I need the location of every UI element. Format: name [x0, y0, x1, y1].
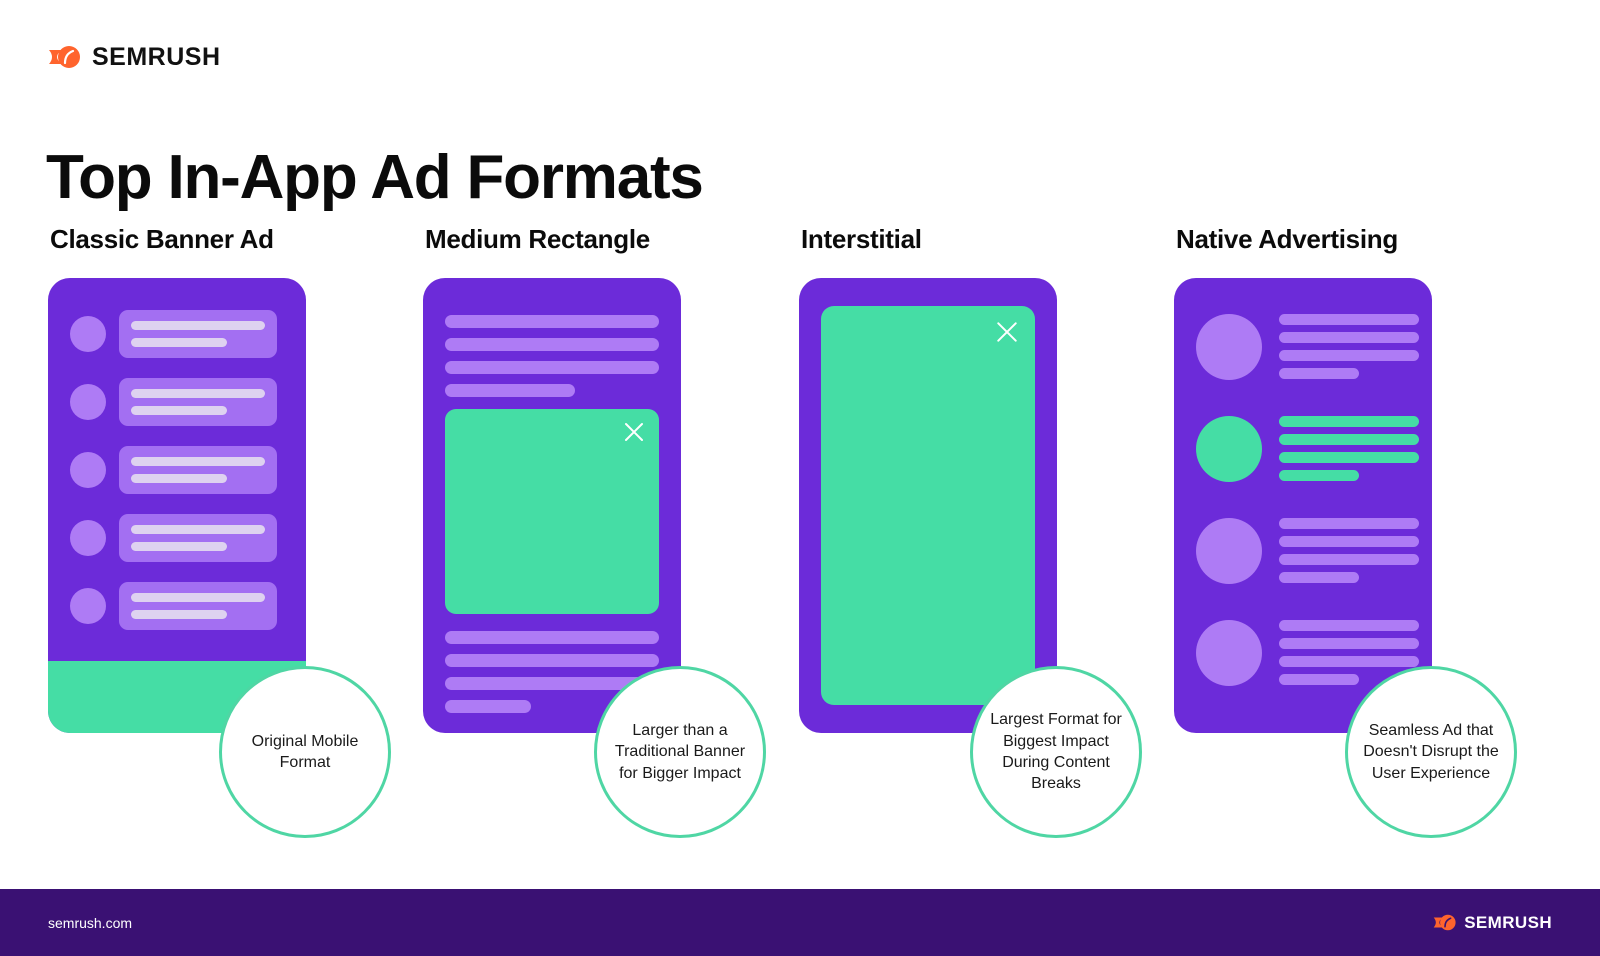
text-line — [1279, 518, 1419, 529]
text-line — [1279, 638, 1419, 649]
placeholder-line — [131, 525, 265, 534]
close-x-icon[interactable] — [995, 320, 1019, 344]
infographic-canvas: SEMRUSH Top In-App Ad Formats Classic Ba… — [0, 0, 1600, 956]
column-medium-rectangle: Medium Rectangle — [423, 225, 803, 733]
feed-item — [1196, 314, 1419, 380]
close-x-icon[interactable] — [623, 421, 645, 443]
text-block — [1279, 314, 1419, 379]
text-line — [1279, 368, 1359, 379]
text-line — [1279, 332, 1419, 343]
interstitial-ad-slot — [821, 306, 1035, 705]
feed-item — [1196, 620, 1419, 686]
feed-item — [1196, 518, 1419, 584]
avatar — [1196, 314, 1262, 380]
text-line — [1279, 536, 1419, 547]
placeholder-line — [131, 338, 227, 347]
footer-url[interactable]: semrush.com — [48, 915, 132, 931]
phone-mockup-interstitial — [799, 278, 1057, 733]
footer-wordmark: SEMRUSH — [1464, 913, 1552, 933]
column-heading: Medium Rectangle — [425, 225, 803, 254]
column-heading: Native Advertising — [1176, 225, 1554, 254]
medium-rectangle-ad-slot — [445, 409, 659, 614]
phone-screen — [1174, 278, 1432, 733]
feed-item-native-ad — [1196, 416, 1419, 482]
avatar — [70, 588, 106, 624]
text-line — [445, 700, 531, 713]
placeholder-line — [131, 389, 265, 398]
avatar — [70, 520, 106, 556]
content-card — [119, 446, 277, 494]
text-line — [1279, 314, 1419, 325]
column-heading: Interstitial — [801, 225, 1179, 254]
text-line — [1279, 554, 1419, 565]
list-item — [70, 582, 277, 630]
semrush-comet-icon — [1433, 913, 1457, 932]
callout-bubble-classic-banner: Original Mobile Format — [219, 666, 391, 838]
text-block — [1279, 518, 1419, 583]
footer-bar: semrush.com SEMRUSH — [0, 889, 1600, 956]
text-line — [1279, 572, 1359, 583]
text-line — [1279, 674, 1359, 685]
text-line — [1279, 656, 1419, 667]
avatar — [1196, 620, 1262, 686]
text-line — [1279, 620, 1419, 631]
text-line — [1279, 350, 1419, 361]
text-line — [445, 315, 659, 328]
placeholder-line — [131, 610, 227, 619]
text-block — [1279, 416, 1419, 481]
content-card — [119, 582, 277, 630]
list-item — [70, 310, 277, 358]
placeholder-line — [131, 474, 227, 483]
text-line — [445, 654, 659, 667]
avatar — [70, 316, 106, 352]
placeholder-line — [131, 457, 265, 466]
phone-screen — [423, 278, 681, 733]
column-native-advertising: Native Advertising — [1174, 225, 1554, 733]
text-line — [445, 631, 659, 644]
list-item — [70, 378, 277, 426]
footer-logo: SEMRUSH — [1433, 913, 1552, 933]
text-line — [1279, 416, 1419, 427]
callout-bubble-medium-rectangle: Larger than a Traditional Banner for Big… — [594, 666, 766, 838]
placeholder-line — [131, 542, 227, 551]
callout-bubble-native-advertising: Seamless Ad that Doesn't Disrupt the Use… — [1345, 666, 1517, 838]
callout-bubble-interstitial: Largest Format for Biggest Impact During… — [970, 666, 1142, 838]
text-line — [1279, 452, 1419, 463]
avatar — [70, 384, 106, 420]
placeholder-line — [131, 321, 265, 330]
avatar — [1196, 416, 1262, 482]
text-line — [445, 338, 659, 351]
avatar — [1196, 518, 1262, 584]
placeholder-line — [131, 406, 227, 415]
list-item — [70, 446, 277, 494]
column-interstitial: Interstitial — [799, 225, 1179, 733]
avatar — [70, 452, 106, 488]
phone-mockup-medium-rectangle — [423, 278, 681, 733]
phone-screen — [799, 278, 1057, 733]
phone-mockup-classic-banner — [48, 278, 306, 733]
text-line — [1279, 470, 1359, 481]
phone-mockup-native-advertising — [1174, 278, 1432, 733]
content-card — [119, 514, 277, 562]
column-heading: Classic Banner Ad — [50, 225, 428, 254]
list-item — [70, 514, 277, 562]
content-card — [119, 310, 277, 358]
placeholder-line — [131, 593, 265, 602]
content-card — [119, 378, 277, 426]
phone-screen — [48, 278, 306, 733]
text-line — [445, 361, 659, 374]
column-classic-banner-ad: Classic Banner Ad — [48, 225, 428, 733]
text-line — [445, 384, 575, 397]
text-line — [1279, 434, 1419, 445]
